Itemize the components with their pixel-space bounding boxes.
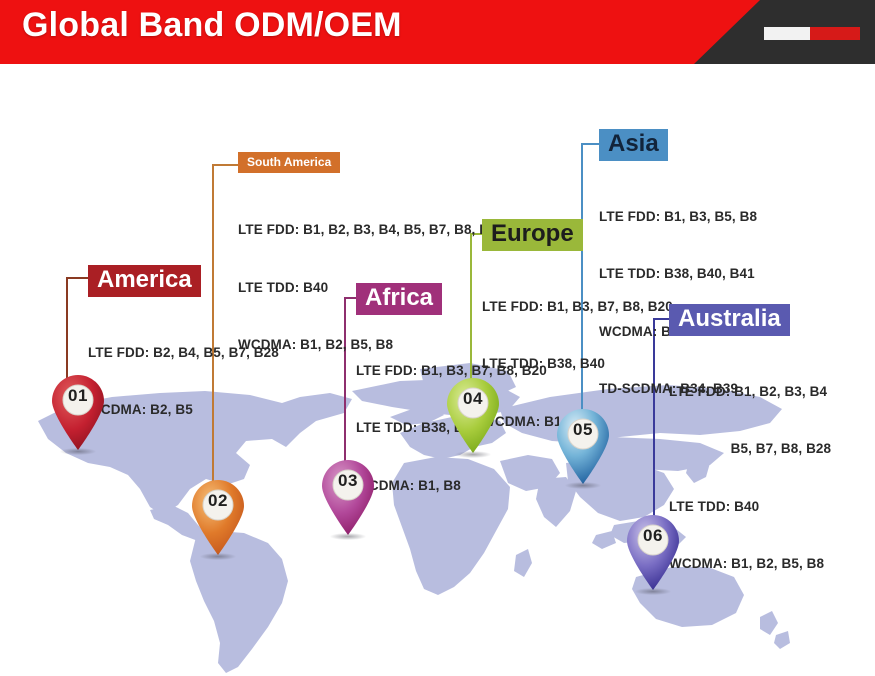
map-pin-label: 04: [443, 389, 503, 409]
map-pin-02[interactable]: 02: [188, 478, 248, 556]
infographic-slide: Global Band ODM/OEM: [0, 0, 875, 676]
map-pin-label: 03: [318, 471, 378, 491]
spec-line: WCDMA: B1, B8: [356, 476, 547, 495]
header-bar-white-segment: [764, 27, 810, 40]
pin-shadow: [60, 448, 96, 455]
pin-shadow: [455, 451, 491, 458]
header-accent-bar: [764, 27, 860, 40]
pin-shadow: [330, 533, 366, 540]
region-label-asia[interactable]: Asia: [599, 129, 668, 161]
region-label-europe[interactable]: Europe: [482, 219, 583, 251]
map-pin-label: 06: [623, 526, 683, 546]
region-label-australia[interactable]: Australia: [669, 304, 790, 336]
page-title: Global Band ODM/OEM: [22, 6, 402, 45]
pin-shadow: [200, 553, 236, 560]
spec-line: LTE FDD: B1, B2, B3, B4: [669, 382, 831, 401]
map-pin-label: 02: [188, 491, 248, 511]
map-pin-05[interactable]: 05: [553, 407, 613, 485]
region-australia: Australia LTE FDD: B1, B2, B3, B4 B5, B7…: [669, 304, 831, 612]
spec-line: WCDMA: B2, B5: [88, 400, 279, 419]
map-pin-01[interactable]: 01: [48, 373, 108, 451]
region-label-south-america[interactable]: South America: [238, 152, 340, 173]
map-pin-04[interactable]: 04: [443, 376, 503, 454]
map-pin-label: 05: [553, 420, 613, 440]
spec-line: LTE FDD: B1, B3, B5, B8: [599, 207, 757, 226]
map-pin-03[interactable]: 03: [318, 458, 378, 536]
pin-shadow: [635, 588, 671, 595]
pin-shadow: [565, 482, 601, 489]
header-bar-red-segment: [810, 27, 860, 40]
spec-line: LTE FDD: B1, B2, B3, B4, B5, B7, B8, B28: [238, 220, 504, 239]
region-label-america[interactable]: America: [88, 265, 201, 297]
region-specs-australia: LTE FDD: B1, B2, B3, B4 B5, B7, B8, B28 …: [669, 343, 831, 611]
spec-line: B5, B7, B8, B28: [669, 439, 831, 458]
region-label-africa[interactable]: Africa: [356, 283, 442, 315]
header-banner: Global Band ODM/OEM: [0, 0, 875, 64]
spec-line: WCDMA: B1, B2, B5, B8: [669, 554, 831, 573]
map-pin-label: 01: [48, 386, 108, 406]
map-pin-06[interactable]: 06: [623, 513, 683, 591]
spec-line: LTE TDD: B38, B40, B41: [599, 264, 757, 283]
spec-line: LTE TDD: B40: [669, 497, 831, 516]
